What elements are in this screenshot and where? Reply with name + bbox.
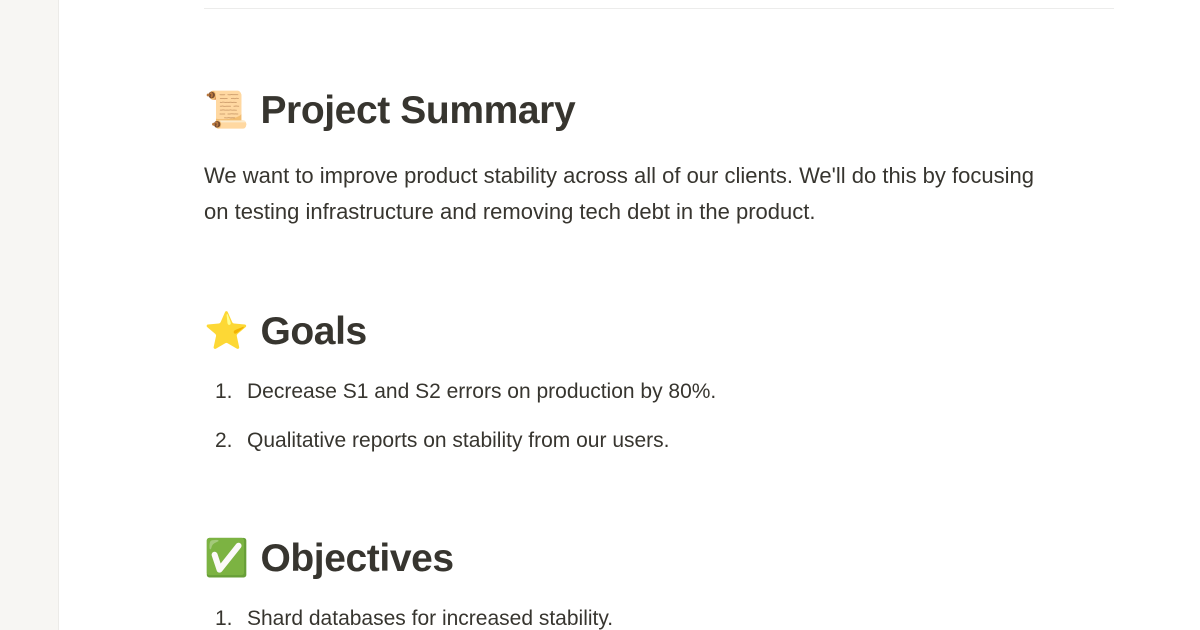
objectives-list: 1. Shard databases for increased stabili… — [204, 603, 1175, 630]
top-divider — [204, 8, 1114, 9]
list-item[interactable]: 1. Decrease S1 and S2 errors on producti… — [204, 376, 1175, 408]
scroll-emoji: 📜 — [204, 93, 248, 129]
list-item-text: Qualitative reports on stability from ou… — [247, 425, 1175, 457]
goals-heading-text: Goals — [260, 310, 366, 355]
goals-list: 1. Decrease S1 and S2 errors on producti… — [204, 376, 1175, 457]
section-objectives: ✅ Objectives 1. Shard databases for incr… — [204, 537, 1175, 630]
list-item-marker: 1. — [215, 603, 247, 630]
document-pane[interactable]: 📜 Project Summary We want to improve pro… — [59, 0, 1200, 630]
check-mark-button-emoji: ✅ — [204, 541, 248, 577]
objectives-heading: ✅ Objectives — [204, 537, 1175, 582]
list-item-text: Shard databases for increased stability. — [247, 603, 1175, 630]
project-summary-paragraph[interactable]: We want to improve product stability acr… — [204, 158, 1064, 230]
section-project-summary: 📜 Project Summary We want to improve pro… — [204, 89, 1175, 230]
document-content: 📜 Project Summary We want to improve pro… — [59, 89, 1200, 630]
objectives-heading-text: Objectives — [260, 537, 453, 582]
project-summary-heading: 📜 Project Summary — [204, 89, 1175, 134]
sidebar[interactable] — [0, 0, 59, 630]
list-item-text: Decrease S1 and S2 errors on production … — [247, 376, 1175, 408]
app-root: 📜 Project Summary We want to improve pro… — [0, 0, 1200, 630]
goals-heading: ⭐ Goals — [204, 310, 1175, 355]
section-goals: ⭐ Goals 1. Decrease S1 and S2 errors on … — [204, 310, 1175, 457]
list-item[interactable]: 1. Shard databases for increased stabili… — [204, 603, 1175, 630]
list-item-marker: 2. — [215, 425, 247, 457]
list-item[interactable]: 2. Qualitative reports on stability from… — [204, 425, 1175, 457]
project-summary-heading-text: Project Summary — [260, 89, 575, 134]
list-item-marker: 1. — [215, 376, 247, 408]
star-emoji: ⭐ — [204, 314, 248, 350]
